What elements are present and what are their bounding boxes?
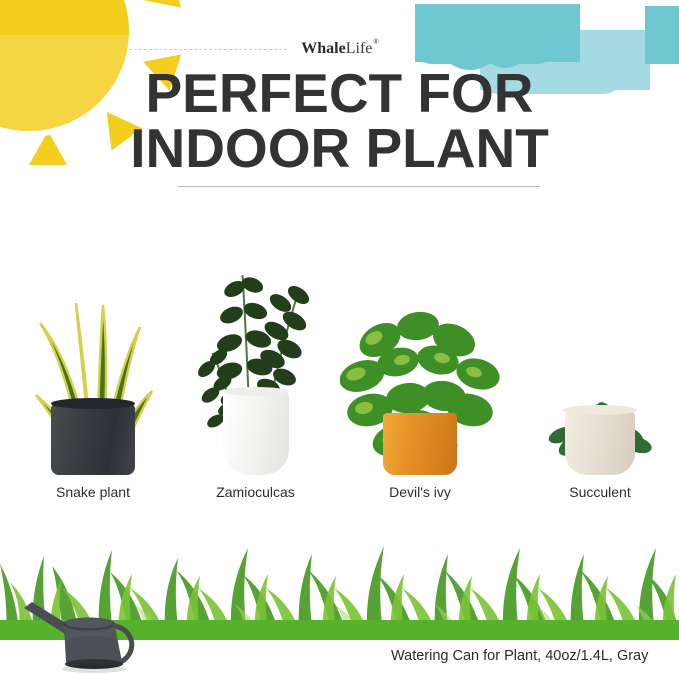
plant-label-zamioculcas: Zamioculcas xyxy=(188,484,323,500)
title-line-2: INDOOR PLANT xyxy=(0,121,679,176)
zamioculcas-pot xyxy=(223,391,289,475)
page-title: PERFECT FOR INDOOR PLANT xyxy=(0,66,679,176)
title-line-1: PERFECT FOR xyxy=(145,62,533,124)
brand-name-bold: Whale xyxy=(301,40,345,57)
devils-ivy-pot xyxy=(383,413,457,475)
plant-label-succulent: Succulent xyxy=(548,484,652,500)
infographic-page: WhaleLife® PERFECT FOR INDOOR PLANT xyxy=(0,0,679,674)
plant-item-snake-plant xyxy=(28,210,158,475)
registered-mark-icon: ® xyxy=(373,38,378,46)
plant-item-devils-ivy xyxy=(340,210,500,475)
watering-can-icon xyxy=(22,600,152,674)
brand-header: WhaleLife® xyxy=(0,36,679,62)
divider-dashed-left xyxy=(119,49,287,50)
snake-plant-pot xyxy=(51,403,135,475)
brand-logo: WhaleLife® xyxy=(301,40,377,58)
divider-under-title xyxy=(178,186,540,187)
product-caption: Watering Can for Plant, 40oz/1.4L, Gray xyxy=(391,648,648,664)
plant-item-zamioculcas xyxy=(188,210,323,475)
brand-name-light: Life xyxy=(346,40,373,57)
watering-can-product-image xyxy=(22,600,152,674)
plant-label-devils-ivy: Devil's ivy xyxy=(340,484,500,500)
succulent-pot xyxy=(565,409,635,475)
plant-item-succulent xyxy=(548,210,652,475)
plant-label-snake-plant: Snake plant xyxy=(28,484,158,500)
plant-gallery xyxy=(0,205,679,475)
